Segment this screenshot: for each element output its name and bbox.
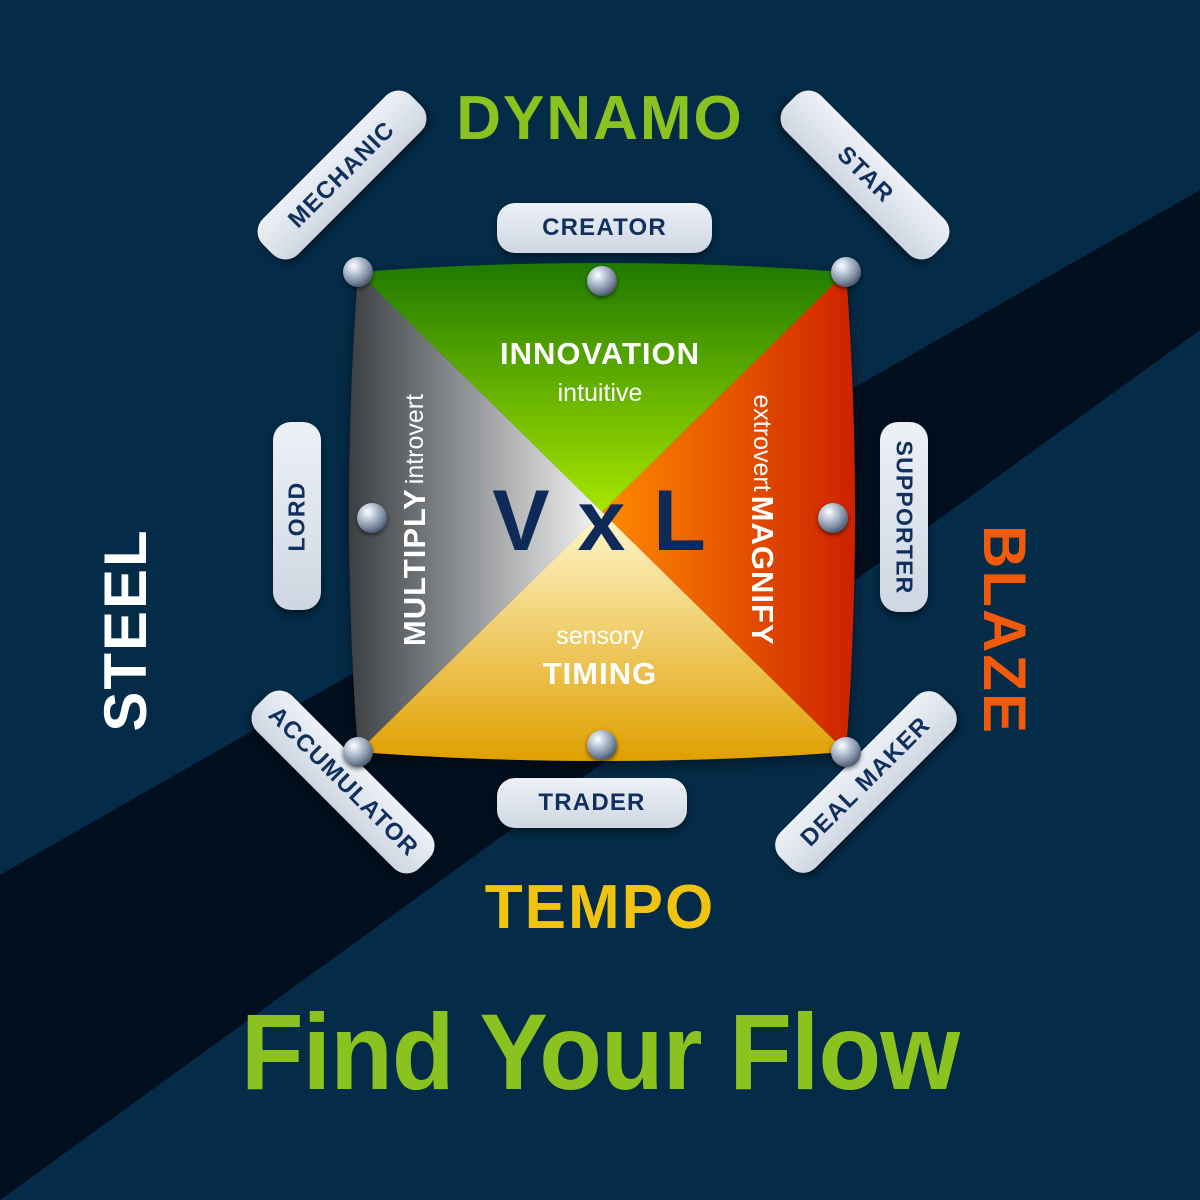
node-bottom-right <box>831 737 861 767</box>
page-headline: Find Your Flow <box>30 995 1170 1108</box>
node-top-right <box>831 257 861 287</box>
pill-trader-label: TRADER <box>538 789 645 817</box>
quadrant-label-blaze: BLAZE <box>974 525 1034 735</box>
quadrant-label-tempo: TEMPO <box>0 877 1200 939</box>
pill-lord[interactable]: LORD <box>273 422 321 610</box>
node-bottom-mid <box>587 730 617 760</box>
poster-canvas: INNOVATION intuitive sensory TIMING MULT… <box>0 0 1200 1200</box>
node-bottom-left <box>343 737 373 767</box>
pill-lord-label: LORD <box>284 481 311 551</box>
node-top-left <box>343 257 373 287</box>
pill-creator-label: CREATOR <box>542 214 667 242</box>
pill-creator[interactable]: CREATOR <box>497 203 712 253</box>
node-left-mid <box>357 503 387 533</box>
pill-supporter[interactable]: SUPPORTER <box>880 422 928 612</box>
quadrant-label-steel: STEEL <box>96 528 156 731</box>
pill-supporter-label: SUPPORTER <box>891 440 918 594</box>
quadrant-label-dynamo: DYNAMO <box>0 88 1200 150</box>
vxl-quadrant-diagram <box>322 240 882 780</box>
pill-trader[interactable]: TRADER <box>497 778 687 828</box>
node-top-mid <box>587 266 617 296</box>
node-right-mid <box>818 503 848 533</box>
